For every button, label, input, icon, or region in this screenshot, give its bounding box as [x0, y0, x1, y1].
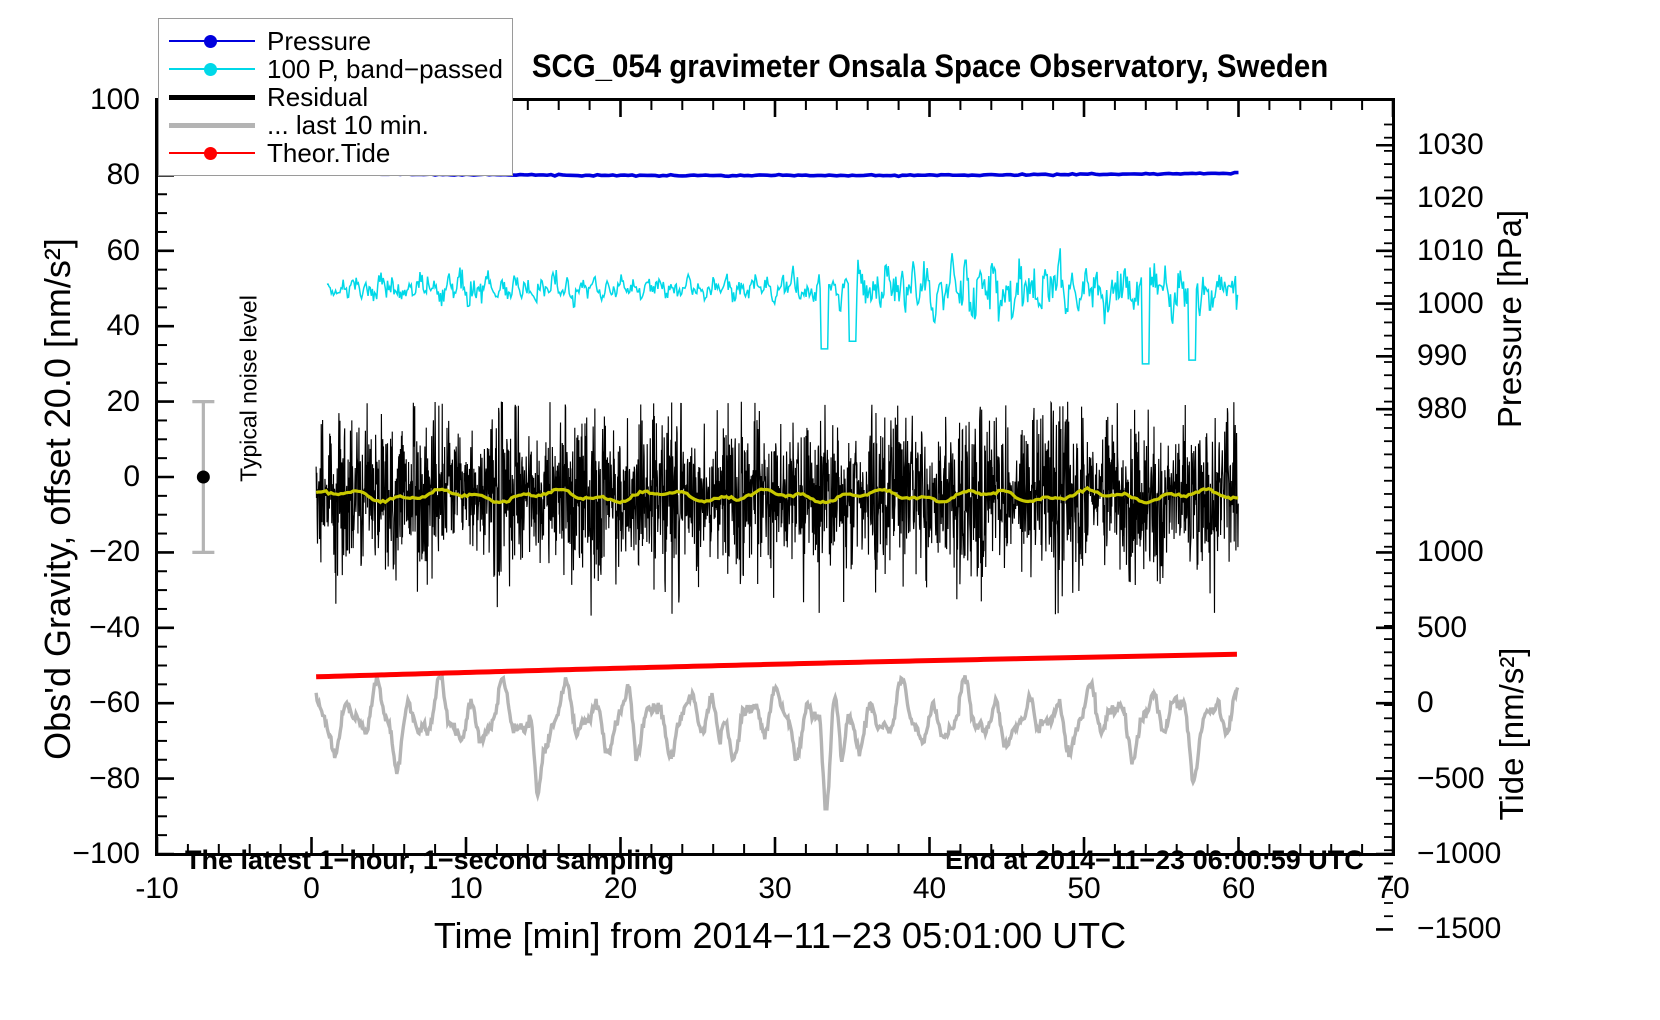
legend-item-label: Pressure — [267, 26, 371, 57]
tick-label: 50 — [1067, 872, 1100, 906]
legend-item-4[interactable]: Theor.Tide — [169, 139, 502, 167]
legend-item-3[interactable]: ... last 10 min. — [169, 111, 502, 139]
tick-label: 20 — [2, 385, 140, 419]
legend-swatch-icon — [169, 87, 255, 107]
tick-label: 1020 — [1417, 181, 1484, 215]
gravimeter-plot-page: SCG_054 gravimeter Onsala Space Observat… — [0, 0, 1660, 1020]
tick-label: 20 — [604, 872, 637, 906]
tick-label: −60 — [2, 686, 140, 720]
legend-swatch-icon — [169, 143, 255, 163]
tick-label: 500 — [1417, 611, 1467, 645]
tick-label: 40 — [913, 872, 946, 906]
legend-item-0[interactable]: Pressure — [169, 27, 502, 55]
x-axis-label: Time [min] from 2014−11−23 05:01:00 UTC — [330, 915, 1230, 957]
legend-item-label: Residual — [267, 82, 368, 113]
tick-label: 0 — [2, 460, 140, 494]
noise-level-label: Typical noise level — [236, 279, 263, 499]
tick-label: 980 — [1417, 392, 1467, 426]
legend-item-label: 100 P, band−passed — [267, 54, 503, 85]
tick-label: −500 — [1417, 762, 1485, 796]
tick-label: 1010 — [1417, 234, 1484, 268]
page-title: SCG_054 gravimeter Onsala Space Observat… — [470, 48, 1390, 85]
tick-label: −1500 — [1417, 912, 1501, 946]
tick-label: 990 — [1417, 339, 1467, 373]
tick-label: −40 — [2, 611, 140, 645]
legend-item-2[interactable]: Residual — [169, 83, 502, 111]
legend-item-label: ... last 10 min. — [267, 110, 429, 141]
tick-label: 0 — [1417, 686, 1434, 720]
legend-swatch-icon — [169, 115, 255, 135]
legend-item-1[interactable]: 100 P, band−passed — [169, 55, 502, 83]
tick-label: −1000 — [1417, 837, 1501, 871]
tick-label: -10 — [135, 872, 178, 906]
tick-label: 70 — [1376, 872, 1409, 906]
tick-label: 10 — [449, 872, 482, 906]
tick-label: 60 — [2, 234, 140, 268]
tick-label: 0 — [303, 872, 320, 906]
tick-label: 80 — [2, 158, 140, 192]
legend-item-label: Theor.Tide — [267, 138, 390, 169]
legend-swatch-icon — [169, 31, 255, 51]
tick-label: 1000 — [1417, 287, 1484, 321]
tick-label: 1030 — [1417, 128, 1484, 162]
tick-label: 1000 — [1417, 535, 1484, 569]
tick-label: 30 — [758, 872, 791, 906]
tick-label: −80 — [2, 762, 140, 796]
y-axis-label-left: Obs'd Gravity, offset 20.0 [nm/s²] — [37, 179, 79, 819]
tick-label: 100 — [2, 83, 140, 117]
tick-label: −100 — [2, 837, 140, 871]
tick-label: 40 — [2, 309, 140, 343]
y-axis-label-pressure: Pressure [hPa] — [1491, 139, 1529, 499]
end-time-note: End at 2014−11−23 06:00:59 UTC — [945, 845, 1364, 876]
plot-area — [155, 98, 1395, 856]
legend-swatch-icon — [169, 59, 255, 79]
legend[interactable]: Pressure100 P, band−passedResidual... la… — [158, 18, 513, 176]
tick-label: 60 — [1222, 872, 1255, 906]
tick-label: −20 — [2, 535, 140, 569]
sampling-note: The latest 1−hour, 1−second sampling — [185, 845, 674, 876]
